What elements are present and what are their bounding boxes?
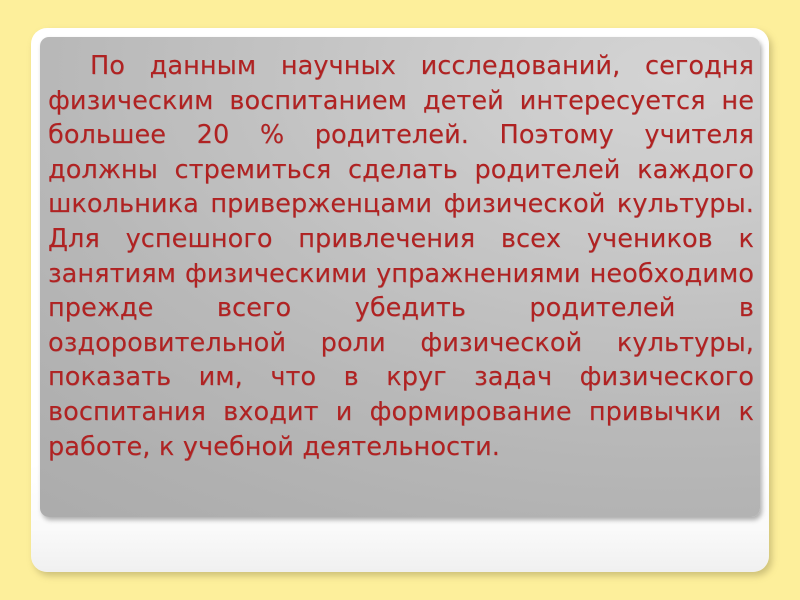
presentation-slide: По данным научных исследований, сегодня … <box>0 0 800 600</box>
content-card: По данным научных исследований, сегодня … <box>31 28 769 572</box>
slide-body-paragraph: По данным научных исследований, сегодня … <box>48 49 754 464</box>
text-content-panel: По данным научных исследований, сегодня … <box>40 37 760 517</box>
